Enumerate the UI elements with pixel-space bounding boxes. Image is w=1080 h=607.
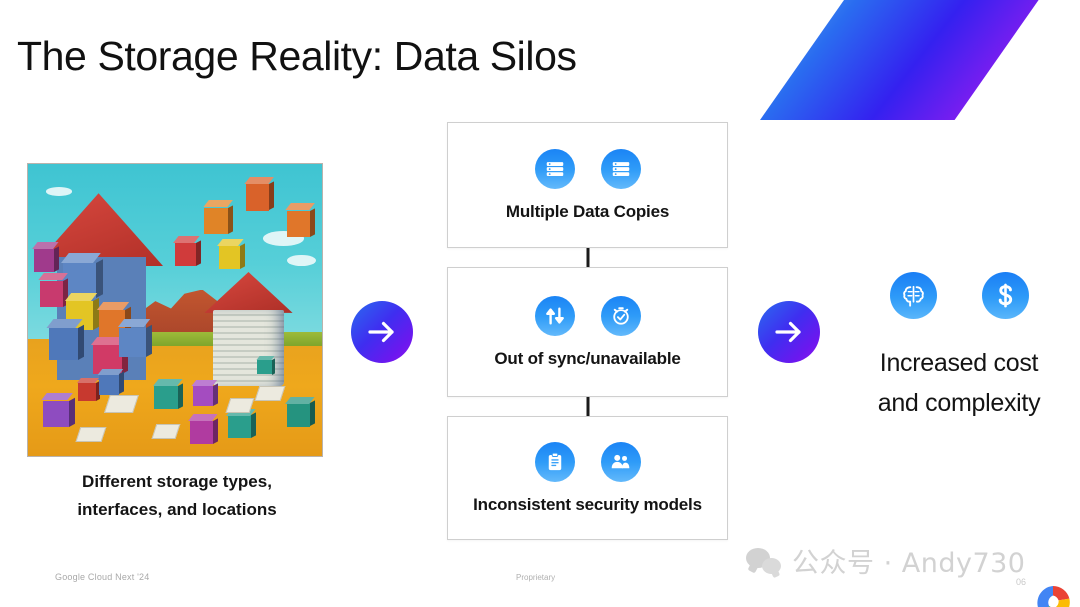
outcome-line-1: Increased cost bbox=[843, 343, 1075, 383]
card-connector-line bbox=[586, 397, 589, 416]
cube-shape bbox=[40, 281, 64, 307]
flow-arrow-2[interactable] bbox=[758, 301, 820, 363]
illustration-canvas bbox=[28, 164, 322, 456]
flow-arrow-1[interactable] bbox=[351, 301, 413, 363]
people-group-icon bbox=[601, 442, 641, 482]
card-connector-line bbox=[586, 248, 589, 267]
cube-shape bbox=[257, 360, 272, 375]
database-icon bbox=[601, 149, 641, 189]
silos-illustration bbox=[27, 163, 323, 457]
cube-shape bbox=[246, 184, 270, 210]
footer-event-label: Google Cloud Next '24 bbox=[55, 572, 149, 582]
problem-card-stack: Multiple Data Copies bbox=[447, 122, 728, 540]
cube-shape bbox=[204, 208, 228, 234]
cube-shape bbox=[99, 374, 120, 394]
cube-shape bbox=[34, 249, 55, 272]
card-multiple-data-copies[interactable]: Multiple Data Copies bbox=[447, 122, 728, 248]
alarm-clock-check-icon bbox=[601, 296, 641, 336]
paper-scrap bbox=[226, 398, 254, 413]
cube-shape bbox=[119, 328, 145, 357]
cube-shape bbox=[287, 403, 311, 426]
card-label: Inconsistent security models bbox=[473, 495, 702, 515]
card-label: Multiple Data Copies bbox=[506, 202, 669, 222]
cube-shape bbox=[154, 386, 178, 409]
card-icon-row bbox=[535, 149, 641, 189]
paper-scrap bbox=[255, 386, 286, 401]
google-logo-icon bbox=[1034, 584, 1072, 607]
page-title: The Storage Reality: Data Silos bbox=[17, 33, 577, 80]
outcome-icon-row bbox=[843, 272, 1075, 319]
illustration-caption: Different storage types, interfaces, and… bbox=[27, 468, 327, 523]
caption-line-1: Different storage types, bbox=[27, 468, 327, 496]
cube-shape bbox=[49, 328, 78, 360]
cube-shape bbox=[193, 386, 214, 406]
cube-shape bbox=[287, 211, 311, 237]
cube-shape bbox=[190, 421, 214, 444]
corner-gradient-shape bbox=[760, 0, 1040, 120]
card-icon-row bbox=[535, 442, 641, 482]
card-out-of-sync[interactable]: Out of sync/unavailable bbox=[447, 267, 728, 397]
wechat-watermark: 公众号 · Andy730 bbox=[746, 541, 1025, 580]
clipboard-icon bbox=[535, 442, 575, 482]
paper-scrap bbox=[105, 395, 140, 413]
caption-line-2: interfaces, and locations bbox=[27, 496, 327, 524]
cube-shape bbox=[43, 401, 69, 427]
paper-scrap bbox=[76, 427, 107, 442]
dollar-icon bbox=[982, 272, 1029, 319]
brain-icon bbox=[890, 272, 937, 319]
cube-shape bbox=[219, 246, 240, 269]
footer-proprietary: Proprietary bbox=[516, 573, 555, 582]
outcome-block: Increased cost and complexity bbox=[843, 272, 1075, 423]
cube-shape bbox=[228, 415, 252, 438]
watermark-text: 公众号 · Andy730 bbox=[792, 541, 1025, 580]
card-label: Out of sync/unavailable bbox=[494, 349, 680, 369]
cube-shape bbox=[78, 383, 96, 401]
sync-arrows-icon bbox=[535, 296, 575, 336]
outcome-line-2: and complexity bbox=[843, 383, 1075, 423]
cloud-shape bbox=[287, 255, 316, 267]
arrow-right-icon bbox=[774, 319, 804, 345]
wechat-icon bbox=[746, 548, 781, 574]
silo-tower-right bbox=[213, 310, 284, 386]
arrow-right-icon bbox=[367, 319, 397, 345]
database-icon bbox=[535, 149, 575, 189]
slide-root: The Storage Reality: Data Silos bbox=[0, 0, 1080, 607]
card-inconsistent-security[interactable]: Inconsistent security models bbox=[447, 416, 728, 540]
outcome-text: Increased cost and complexity bbox=[843, 343, 1075, 423]
card-icon-row bbox=[535, 296, 641, 336]
cube-shape bbox=[175, 243, 196, 266]
